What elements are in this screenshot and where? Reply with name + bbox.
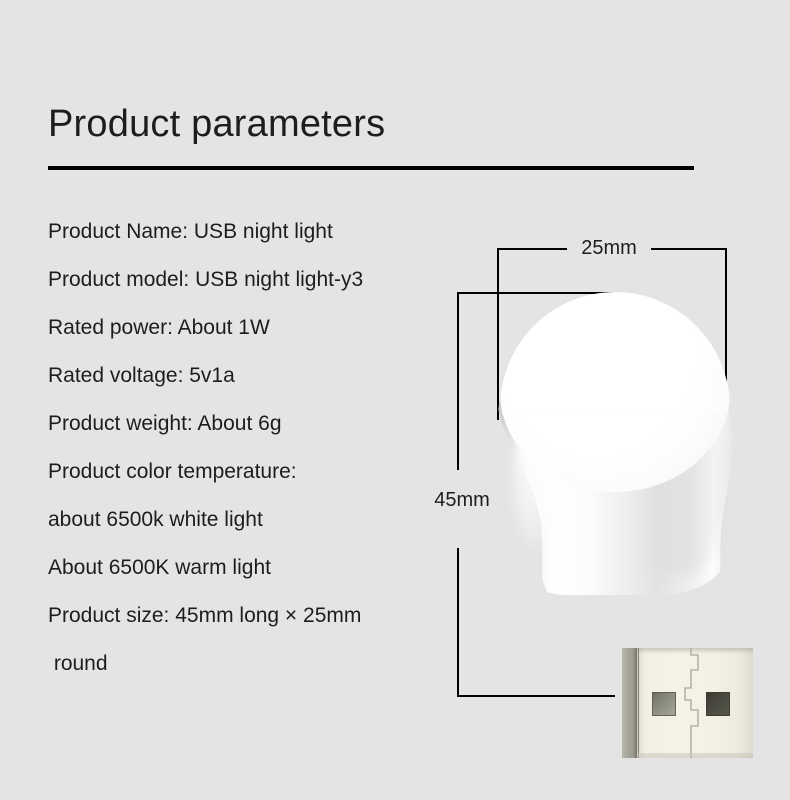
- spec-product-model: Product model: USB night light-y3: [48, 256, 468, 304]
- width-dimension-line-right: [651, 248, 727, 250]
- height-dimension-line-bottom: [457, 548, 459, 697]
- product-illustration: 25mm 45mm: [420, 225, 780, 725]
- led-diffuser-dome: [500, 292, 730, 492]
- title-underline-rule: [48, 166, 694, 170]
- spec-warm-light: About 6500K warm light: [48, 544, 468, 592]
- width-dimension-label: 25mm: [567, 235, 651, 261]
- page-title: Product parameters: [48, 103, 385, 146]
- specification-list: Product Name: USB night light Product mo…: [48, 208, 468, 688]
- spec-product-name: Product Name: USB night light: [48, 208, 468, 256]
- spec-product-weight: Product weight: About 6g: [48, 400, 468, 448]
- usb-type-a-connector: [622, 648, 753, 758]
- spec-rated-voltage: Rated voltage: 5v1a: [48, 352, 468, 400]
- usb-shell-hole-left: [652, 692, 676, 716]
- usb-shell-seam-line: [638, 648, 639, 758]
- usb-shell-left-edge: [622, 648, 637, 758]
- spec-rated-power: Rated power: About 1W: [48, 304, 468, 352]
- height-extension-line-bottom: [457, 695, 615, 697]
- usb-shell-bottom-lip: [638, 753, 753, 758]
- spec-color-temperature: Product color temperature:: [48, 448, 468, 496]
- usb-shell-hole-right: [706, 692, 730, 716]
- spec-white-light: about 6500k white light: [48, 496, 468, 544]
- usb-shell-zigzag-seam: [680, 648, 702, 758]
- spec-product-size: Product size: 45mm long × 25mm: [48, 592, 468, 640]
- product-parameters-page: Product parameters Product Name: USB nig…: [0, 0, 790, 800]
- height-dimension-line-top: [457, 292, 459, 470]
- width-dimension-line-left: [497, 248, 567, 250]
- usb-night-light-bulb: [490, 285, 740, 595]
- dome-seam-edge: [502, 407, 728, 416]
- spec-product-size-cont: round: [48, 640, 468, 688]
